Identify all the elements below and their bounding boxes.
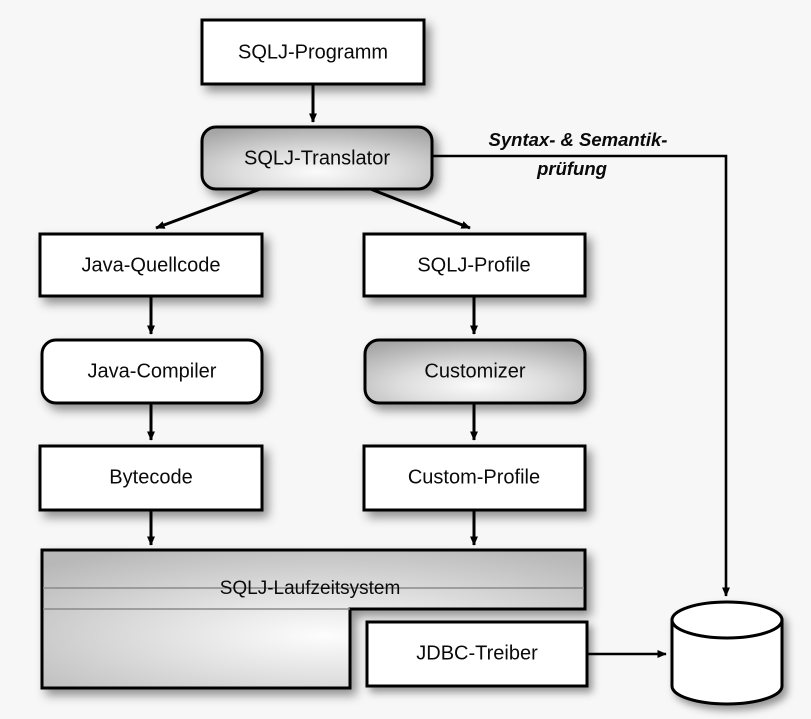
node-java-quellcode-label: Java-Quellcode bbox=[82, 254, 221, 276]
node-sqlj-translator-label: SQLJ-Translator bbox=[244, 147, 390, 169]
node-sqlj-laufzeitsystem-label: SQLJ-Laufzeitsystem bbox=[220, 578, 401, 599]
node-customizer-label: Customizer bbox=[424, 360, 525, 382]
node-bytecode-label: Bytecode bbox=[109, 466, 192, 488]
node-sqlj-profile-label: SQLJ-Profile bbox=[417, 254, 530, 276]
node-datenbank-top-ellipse bbox=[672, 602, 782, 638]
node-customizer[interactable]: Customizer bbox=[365, 340, 585, 403]
edge-label-syntax-check-line1: Syntax- & Semantik- bbox=[489, 129, 668, 150]
node-custom-profile-label: Custom-Profile bbox=[408, 466, 540, 488]
node-jdbc-treiber-label: JDBC-Treiber bbox=[416, 642, 538, 664]
node-sqlj-programm[interactable]: SQLJ-Programm bbox=[202, 20, 424, 84]
diagram-svg: SQLJ-Programm SQLJ-Translator Syntax- & … bbox=[0, 0, 811, 719]
node-sqlj-programm-label: SQLJ-Programm bbox=[238, 41, 388, 63]
edge-label-syntax-check-line2: prüfung bbox=[536, 158, 607, 179]
node-java-compiler[interactable]: Java-Compiler bbox=[42, 340, 262, 403]
node-java-quellcode[interactable]: Java-Quellcode bbox=[40, 234, 262, 296]
node-sqlj-translator[interactable]: SQLJ-Translator bbox=[202, 127, 432, 189]
node-custom-profile[interactable]: Custom-Profile bbox=[364, 446, 585, 510]
node-bytecode[interactable]: Bytecode bbox=[40, 446, 262, 510]
node-sqlj-profile[interactable]: SQLJ-Profile bbox=[364, 234, 585, 296]
node-datenbank[interactable] bbox=[672, 602, 782, 704]
node-java-compiler-label: Java-Compiler bbox=[88, 360, 217, 382]
diagram-canvas: SQLJ-Programm SQLJ-Translator Syntax- & … bbox=[0, 0, 811, 719]
node-jdbc-treiber[interactable]: JDBC-Treiber bbox=[367, 622, 587, 686]
